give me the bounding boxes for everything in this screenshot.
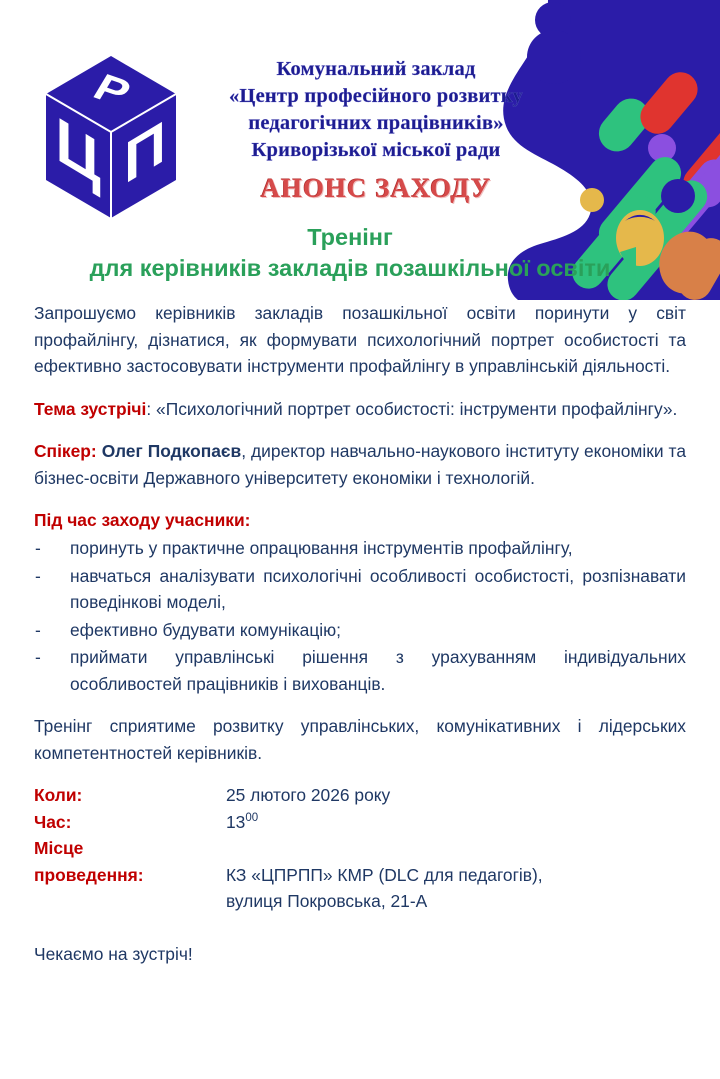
list-item-text: ефективно будувати комунікацію; bbox=[70, 620, 341, 640]
announcement-label: АНОНС ЗАХОДУ bbox=[196, 172, 556, 204]
org-line-2: «Центр професійного розвитку bbox=[196, 83, 556, 110]
detail-label-when: Коли: bbox=[34, 782, 226, 809]
detail-value-place-spacer bbox=[226, 835, 686, 862]
topic-separator: : bbox=[146, 399, 156, 419]
detail-label-time: Час: bbox=[34, 809, 226, 836]
speaker-name: Олег Подкопаєв bbox=[102, 441, 242, 461]
speaker-paragraph: Спікер: Олег Подкопаєв, директор навчаль… bbox=[34, 438, 686, 491]
table-row: Місце bbox=[34, 835, 686, 862]
list-item: - ефективно будувати комунікацію; bbox=[34, 617, 686, 644]
poster-body: Запрошуємо керівників закладів позашкіль… bbox=[0, 300, 720, 967]
topic-paragraph: Тема зустрічі: «Психологічний портрет ос… bbox=[34, 396, 686, 423]
org-line-1: Комунальний заклад bbox=[196, 56, 556, 83]
list-item-text: приймати управлінські рішення з урахуван… bbox=[70, 647, 686, 694]
participants-heading: Під час заходу учасники: bbox=[34, 507, 686, 533]
time-hours: 13 bbox=[226, 812, 245, 832]
list-item: - навчаться аналізувати психологічні осо… bbox=[34, 563, 686, 616]
speaker-label: Спікер: bbox=[34, 441, 97, 461]
event-details-table: Коли: 25 лютого 2026 року Час: 1300 Місц… bbox=[34, 782, 686, 915]
participants-list: - поринуть у практичне опрацювання інстр… bbox=[34, 535, 686, 697]
list-item-text: поринуть у практичне опрацювання інструм… bbox=[70, 538, 573, 558]
place-line-1: КЗ «ЦПРПП» КМР (DLC для педагогів), bbox=[226, 862, 686, 889]
training-title-line1: Тренінг bbox=[10, 222, 690, 253]
closing-line: Чекаємо на зустріч! bbox=[34, 941, 686, 968]
page-title: Тренінг для керівників закладів позашкіл… bbox=[10, 222, 690, 284]
list-item: - поринуть у практичне опрацювання інстр… bbox=[34, 535, 686, 562]
detail-value-place: КЗ «ЦПРПП» КМР (DLC для педагогів), вули… bbox=[226, 862, 686, 915]
time-minutes: 00 bbox=[245, 812, 258, 824]
table-row: Час: 1300 bbox=[34, 809, 686, 836]
detail-value-time: 1300 bbox=[226, 809, 686, 836]
table-row: проведення: КЗ «ЦПРПП» КМР (DLC для педа… bbox=[34, 862, 686, 915]
detail-value-when: 25 лютого 2026 року bbox=[226, 782, 686, 809]
bullet-dash-icon: - bbox=[35, 535, 41, 562]
topic-label: Тема зустрічі bbox=[34, 399, 146, 419]
training-title-line2: для керівників закладів позашкільної осв… bbox=[10, 253, 690, 284]
table-row: Коли: 25 лютого 2026 року bbox=[34, 782, 686, 809]
bullet-dash-icon: - bbox=[35, 563, 41, 590]
place-line-2: вулиця Покровська, 21-А bbox=[226, 888, 686, 915]
org-line-4: Криворізької міської ради bbox=[196, 137, 556, 164]
detail-label-place-line2: проведення: bbox=[34, 862, 226, 915]
topic-text: «Психологічний портрет особистості: інст… bbox=[156, 399, 677, 419]
bullet-dash-icon: - bbox=[35, 617, 41, 644]
list-item-text: навчаться аналізувати психологічні особл… bbox=[70, 566, 686, 613]
outcome-paragraph: Тренінг сприятиме розвитку управлінських… bbox=[34, 713, 686, 766]
org-line-3: педагогічних працівників» bbox=[196, 110, 556, 137]
organization-title: Комунальний заклад «Центр професійного р… bbox=[196, 56, 556, 164]
bullet-dash-icon: - bbox=[35, 644, 41, 671]
organization-logo: Р Ц П bbox=[36, 52, 186, 224]
poster-header: Р Ц П Комунальний заклад «Центр професій… bbox=[0, 0, 720, 300]
detail-label-place-line1: Місце bbox=[34, 835, 226, 862]
intro-paragraph: Запрошуємо керівників закладів позашкіль… bbox=[34, 300, 686, 380]
list-item: - приймати управлінські рішення з урахув… bbox=[34, 644, 686, 697]
